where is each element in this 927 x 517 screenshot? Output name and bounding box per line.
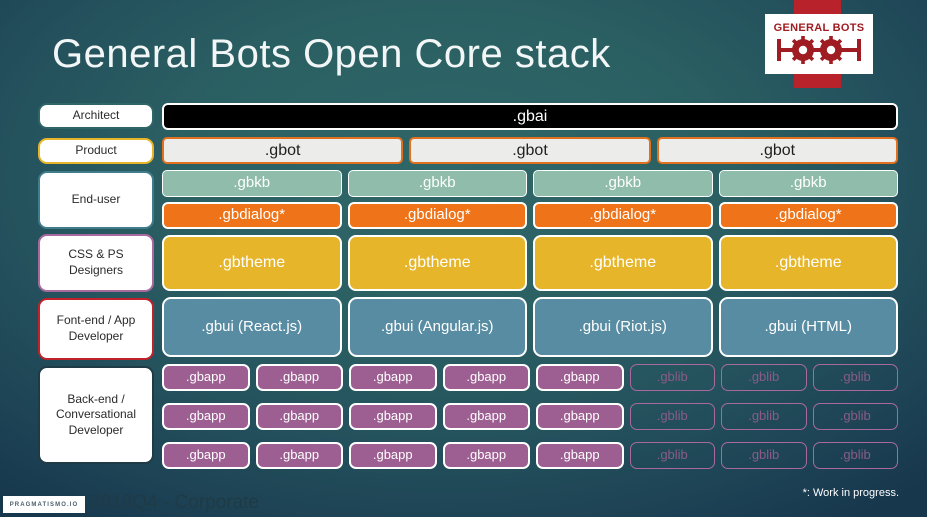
cell-label: .gbui (Angular.js) (381, 319, 494, 336)
sidebar-item-end-user[interactable]: End-user (38, 171, 154, 229)
cell-gbapp[interactable]: .gbapp (443, 403, 531, 430)
cell-gbdialog[interactable]: .gbdialog* (533, 202, 713, 229)
cell-label: .gbtheme (589, 254, 656, 272)
cell-gbtheme[interactable]: .gbtheme (719, 235, 899, 291)
gears-icon (773, 35, 865, 65)
cell-gbkb[interactable]: .gbkb (533, 170, 713, 197)
row-gbapp-gblib-2: .gbapp .gbapp .gbapp .gbapp .gbapp .gbli… (162, 403, 898, 430)
cell-label: .gbot (265, 142, 301, 160)
cell-label: .gbui (HTML) (764, 319, 852, 336)
cell-gbapp[interactable]: .gbapp (349, 442, 437, 469)
cell-gbkb[interactable]: .gbkb (348, 170, 528, 197)
sidebar-item-label: Back-end / Conversational Developer (44, 392, 148, 439)
sidebar-item-backend-conversational-developer[interactable]: Back-end / Conversational Developer (38, 366, 154, 464)
cell-label: .gblib (657, 409, 688, 424)
cell-label: .gbui (React.js) (201, 319, 302, 336)
cell-gblib[interactable]: .gblib (721, 403, 807, 430)
cell-gbapp[interactable]: .gbapp (536, 442, 624, 469)
cell-label: .gbapp (373, 409, 413, 424)
cell-label: .gbdialog* (218, 207, 285, 224)
cell-gbapp[interactable]: .gbapp (162, 442, 250, 469)
cell-label: .gbkb (233, 175, 270, 192)
cell-label: .gbapp (560, 409, 600, 424)
sidebar-item-architect[interactable]: Architect (38, 103, 154, 129)
row-gbdialog: .gbdialog* .gbdialog* .gbdialog* .gbdial… (162, 202, 898, 229)
cell-gbui-riot[interactable]: .gbui (Riot.js) (533, 297, 713, 357)
cell-gbtheme[interactable]: .gbtheme (348, 235, 528, 291)
cell-gbui-react[interactable]: .gbui (React.js) (162, 297, 342, 357)
cell-label: .gbapp (279, 448, 319, 463)
row-gbapp-gblib-3: .gbapp .gbapp .gbapp .gbapp .gbapp .gbli… (162, 442, 898, 469)
sidebar-item-frontend-app-developer[interactable]: Font-end / App Developer (38, 298, 154, 360)
cell-label: .gblib (748, 370, 779, 385)
cell-label: .gbapp (186, 409, 226, 424)
cell-gbapp[interactable]: .gbapp (349, 403, 437, 430)
cell-label: .gbkb (419, 175, 456, 192)
cell-gbai[interactable]: .gbai (162, 103, 898, 130)
cell-gblib[interactable]: .gblib (630, 403, 716, 430)
cell-label: .gblib (840, 448, 871, 463)
cell-label: .gbkb (604, 175, 641, 192)
cell-gbui-angular[interactable]: .gbui (Angular.js) (348, 297, 528, 357)
cell-gbapp[interactable]: .gbapp (536, 403, 624, 430)
cell-label: .gbapp (466, 448, 506, 463)
cell-gbapp[interactable]: .gbapp (256, 403, 344, 430)
cell-label: .gbapp (466, 370, 506, 385)
cell-label: .gbot (512, 142, 548, 160)
sidebar-item-label: CSS & PS Designers (44, 247, 148, 278)
row-gbot: .gbot .gbot .gbot (162, 137, 898, 164)
cell-gbui-html[interactable]: .gbui (HTML) (719, 297, 899, 357)
cell-label: .gbapp (186, 370, 226, 385)
pragmatismo-logo: PRAGMATISMO.IO (3, 496, 85, 513)
cell-gbapp[interactable]: .gbapp (162, 364, 250, 391)
row-gbtheme: .gbtheme .gbtheme .gbtheme .gbtheme (162, 235, 898, 291)
cell-gblib[interactable]: .gblib (721, 364, 807, 391)
cell-label: .gblib (657, 448, 688, 463)
cell-gblib[interactable]: .gblib (721, 442, 807, 469)
logo-wordmark: GENERAL BOTS (774, 23, 865, 34)
cell-label: .gbtheme (218, 254, 285, 272)
cell-gbapp[interactable]: .gbapp (256, 442, 344, 469)
row-gbai: .gbai (162, 103, 898, 130)
cell-gbdialog[interactable]: .gbdialog* (719, 202, 899, 229)
sidebar-item-label: Font-end / App Developer (44, 313, 148, 344)
sidebar-item-css-ps-designers[interactable]: CSS & PS Designers (38, 234, 154, 292)
cell-label: .gbtheme (404, 254, 471, 272)
cell-label: .gbdialog* (775, 207, 842, 224)
sidebar-item-label: End-user (72, 192, 121, 208)
row-gbkb: .gbkb .gbkb .gbkb .gbkb (162, 170, 898, 197)
sidebar-item-label: Product (75, 143, 116, 159)
cell-gbapp[interactable]: .gbapp (443, 442, 531, 469)
cell-gbapp[interactable]: .gbapp (162, 403, 250, 430)
cell-gblib[interactable]: .gblib (813, 442, 899, 469)
cell-label: .gbapp (279, 409, 319, 424)
cell-label: .gbapp (560, 448, 600, 463)
cell-label: .gbapp (373, 448, 413, 463)
cell-gbdialog[interactable]: .gbdialog* (162, 202, 342, 229)
cell-label: .gblib (748, 448, 779, 463)
cell-gbapp[interactable]: .gbapp (536, 364, 624, 391)
cell-gblib[interactable]: .gblib (813, 403, 899, 430)
sidebar-item-label: Architect (73, 108, 120, 124)
cell-gblib[interactable]: .gblib (630, 364, 716, 391)
stack-diagram: Architect Product End-user CSS & PS Desi… (0, 98, 927, 486)
cell-gblib[interactable]: .gblib (813, 364, 899, 391)
cell-label: .gbdialog* (404, 207, 471, 224)
cell-gbtheme[interactable]: .gbtheme (533, 235, 713, 291)
row-gbui: .gbui (React.js) .gbui (Angular.js) .gbu… (162, 297, 898, 357)
cell-label: .gblib (840, 370, 871, 385)
cell-gbkb[interactable]: .gbkb (162, 170, 342, 197)
cell-label: .gbapp (279, 370, 319, 385)
cell-gbapp[interactable]: .gbapp (443, 364, 531, 391)
general-bots-logo: GENERAL BOTS (765, 14, 873, 74)
cell-gbkb[interactable]: .gbkb (719, 170, 899, 197)
cell-label: .gbdialog* (589, 207, 656, 224)
cell-label: .gbkb (790, 175, 827, 192)
sidebar-item-product[interactable]: Product (38, 138, 154, 164)
cell-label: .gbai (513, 108, 548, 126)
cell-gbot[interactable]: .gbot (162, 137, 403, 164)
cell-gbapp[interactable]: .gbapp (256, 364, 344, 391)
cell-gbdialog[interactable]: .gbdialog* (348, 202, 528, 229)
pragmatismo-wordmark: PRAGMATISMO.IO (10, 502, 79, 508)
cell-label: .gblib (657, 370, 688, 385)
footer-caption: 2018Q4 - Corporate (90, 492, 259, 514)
cell-label: .gbapp (560, 370, 600, 385)
cell-gbot[interactable]: .gbot (409, 137, 650, 164)
cell-label: .gbapp (186, 448, 226, 463)
cell-label: .gbot (760, 142, 796, 160)
cell-label: .gblib (748, 409, 779, 424)
cell-label: .gbui (Riot.js) (579, 319, 667, 336)
row-gbapp-gblib-1: .gbapp .gbapp .gbapp .gbapp .gbapp .gbli… (162, 364, 898, 391)
cell-gblib[interactable]: .gblib (630, 442, 716, 469)
cell-label: .gbapp (466, 409, 506, 424)
cell-label: .gbtheme (775, 254, 842, 272)
slide-canvas: General Bots Open Core stack GENERAL BOT… (0, 0, 927, 517)
cell-gbot[interactable]: .gbot (657, 137, 898, 164)
cell-gbapp[interactable]: .gbapp (349, 364, 437, 391)
page-title: General Bots Open Core stack (52, 32, 611, 77)
cell-label: .gblib (840, 409, 871, 424)
cell-label: .gbapp (373, 370, 413, 385)
footnote-work-in-progress: *: Work in progress. (803, 487, 899, 499)
cell-gbtheme[interactable]: .gbtheme (162, 235, 342, 291)
